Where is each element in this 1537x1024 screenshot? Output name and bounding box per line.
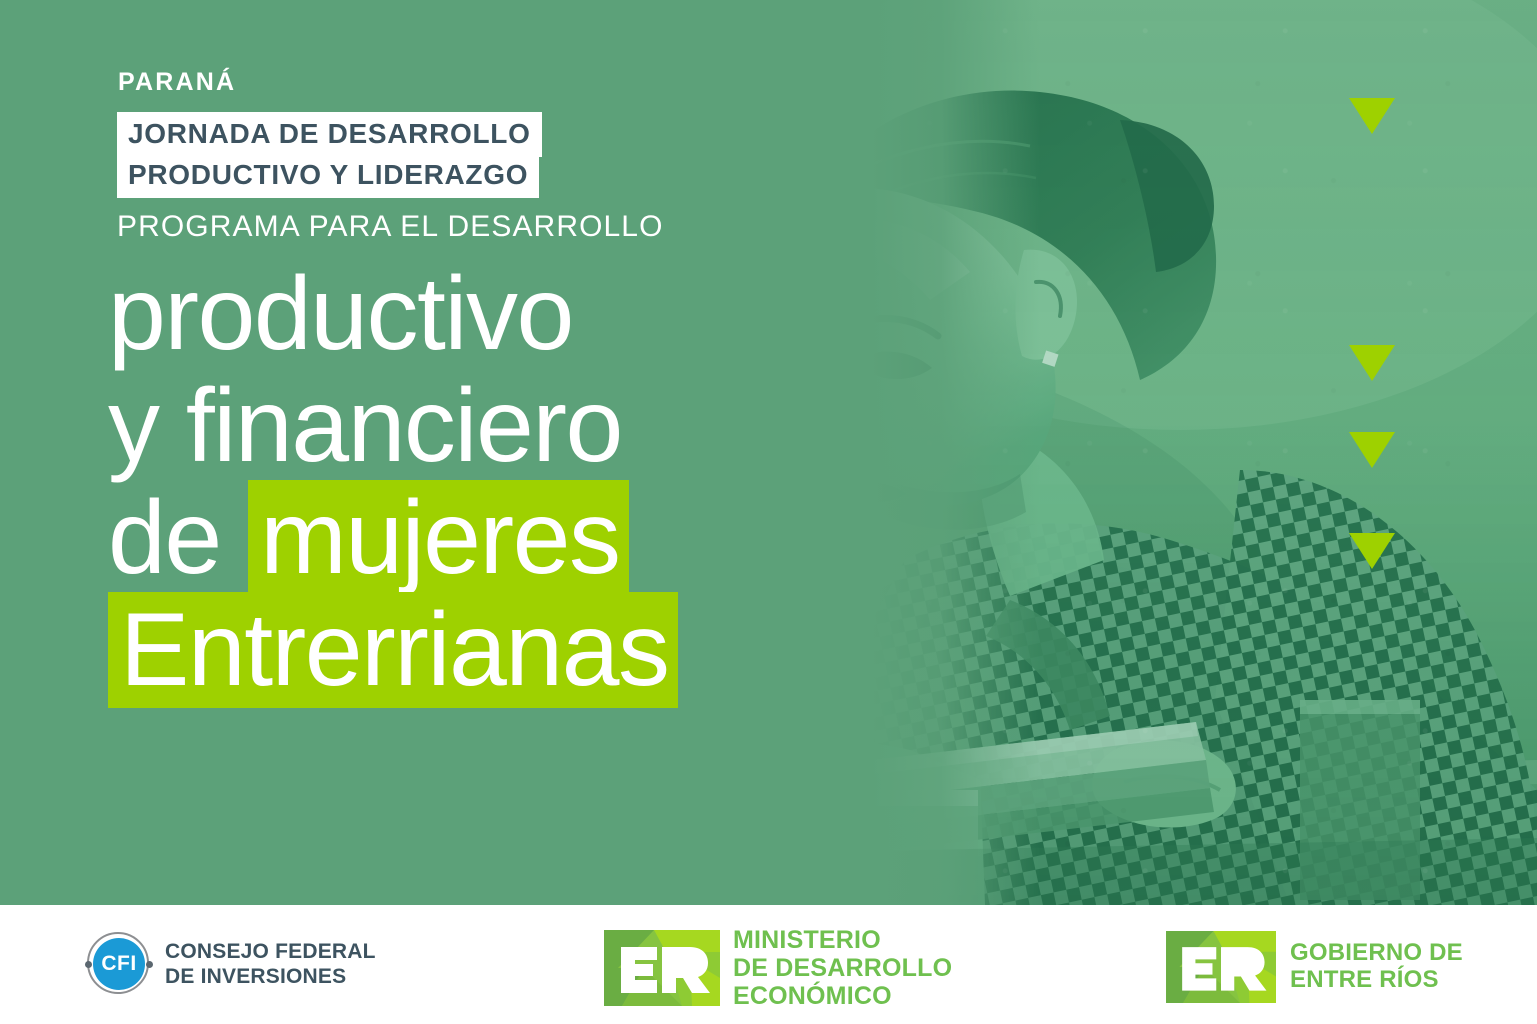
title-line-4-highlight: Entrerrianas (108, 592, 678, 708)
logo-cfi: CFI CONSEJO FEDERAL DE INVERSIONES (86, 931, 376, 997)
title-line-4: Entrerrianas (108, 594, 868, 706)
title-line-3: de mujeres (108, 482, 868, 594)
er-mark-icon (1165, 931, 1277, 1003)
cfi-wordmark-line-1: CONSEJO FEDERAL (165, 939, 376, 964)
main-title: productivo y financiero de mujeres Entre… (108, 258, 868, 706)
poster-canvas: PARANÁ JORNADA DE DESARROLLO PRODUCTIVO … (0, 0, 1537, 1024)
program-kicker: PROGRAMA PARA EL DESARROLLO (117, 212, 664, 242)
footer-logo-bar: CFI CONSEJO FEDERAL DE INVERSIONES (0, 905, 1537, 1024)
title-line-2: y financiero (108, 370, 868, 482)
title-line-1: productivo (108, 258, 868, 370)
title-line-3-highlight: mujeres (248, 480, 629, 596)
cfi-monogram: CFI (93, 938, 145, 990)
cfi-wordmark-line-2: DE INVERSIONES (165, 964, 376, 989)
event-title-line-1: JORNADA DE DESARROLLO (117, 112, 542, 157)
gobierno-wordmark-line-1: GOBIERNO DE (1290, 940, 1463, 967)
ministerio-wordmark-line-1: MINISTERIO (733, 926, 952, 954)
logo-ministerio-desarrollo-economico: MINISTERIO DE DESARROLLO ECONÓMICO (604, 926, 952, 1010)
ministerio-wordmark-line-2: DE DESARROLLO (733, 954, 952, 982)
cfi-wordmark: CONSEJO FEDERAL DE INVERSIONES (165, 939, 376, 989)
triangle-down-icon (1349, 432, 1395, 468)
logo-gobierno-entre-rios: GOBIERNO DE ENTRE RÍOS (1165, 931, 1463, 1003)
triangle-down-icon (1349, 98, 1395, 134)
title-line-3-prefix: de (108, 480, 248, 596)
cfi-circle-icon: CFI (86, 931, 152, 997)
cfi-dot-right-icon (146, 961, 153, 968)
gobierno-wordmark-line-2: ENTRE RÍOS (1290, 967, 1463, 994)
event-title-line-2: PRODUCTIVO Y LIDERAZGO (117, 153, 539, 198)
ministerio-wordmark-line-3: ECONÓMICO (733, 982, 952, 1010)
triangle-down-icon (1349, 533, 1395, 569)
gobierno-wordmark: GOBIERNO DE ENTRE RÍOS (1290, 940, 1463, 994)
triangle-down-icon (1349, 345, 1395, 381)
ministerio-wordmark: MINISTERIO DE DESARROLLO ECONÓMICO (733, 926, 952, 1010)
er-mark-icon (604, 930, 720, 1006)
city-kicker: PARANÁ (118, 70, 236, 95)
cfi-dot-left-icon (85, 961, 92, 968)
